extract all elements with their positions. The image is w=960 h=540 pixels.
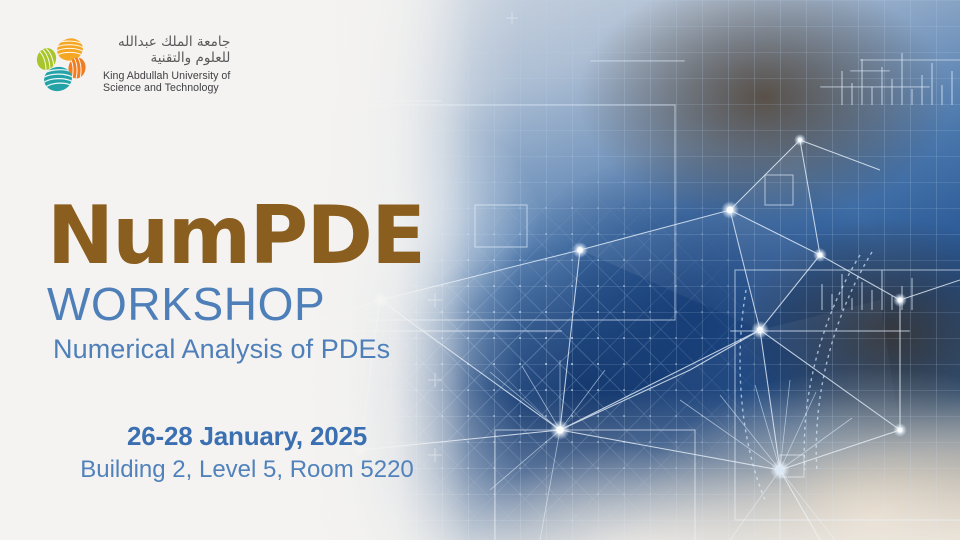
event-details: 26-28 January, 2025 Building 2, Level 5,… (47, 420, 447, 485)
kaust-arabic-line-2: للعلوم والتقنية (103, 51, 230, 67)
event-description: Numerical Analysis of PDEs (53, 332, 424, 366)
event-date: 26-28 January, 2025 (47, 420, 447, 452)
kaust-arabic-line-1: جامعة الملك عبدالله (103, 35, 230, 51)
kaust-logo: جامعة الملك عبدالله للعلوم والتقنية King… (31, 34, 230, 96)
headline-block: NumPDE WORKSHOP Numerical Analysis of PD… (47, 196, 424, 366)
kaust-logo-arabic: جامعة الملك عبدالله للعلوم والتقنية (103, 35, 230, 66)
kaust-logo-mark-icon (31, 34, 93, 96)
kaust-logo-text: جامعة الملك عبدالله للعلوم والتقنية King… (103, 34, 230, 95)
kaust-english-line-2: Science and Technology (103, 82, 230, 94)
hud-bar-chart (822, 53, 952, 310)
kaust-logo-english: King Abdullah University of Science and … (103, 70, 230, 95)
event-subtitle: WORKSHOP (47, 278, 424, 330)
event-venue: Building 2, Level 5, Room 5220 (47, 454, 447, 485)
kaust-english-line-1: King Abdullah University of (103, 70, 230, 82)
event-title: NumPDE (47, 196, 424, 276)
poster-canvas: جامعة الملك عبدالله للعلوم والتقنية King… (0, 0, 960, 540)
